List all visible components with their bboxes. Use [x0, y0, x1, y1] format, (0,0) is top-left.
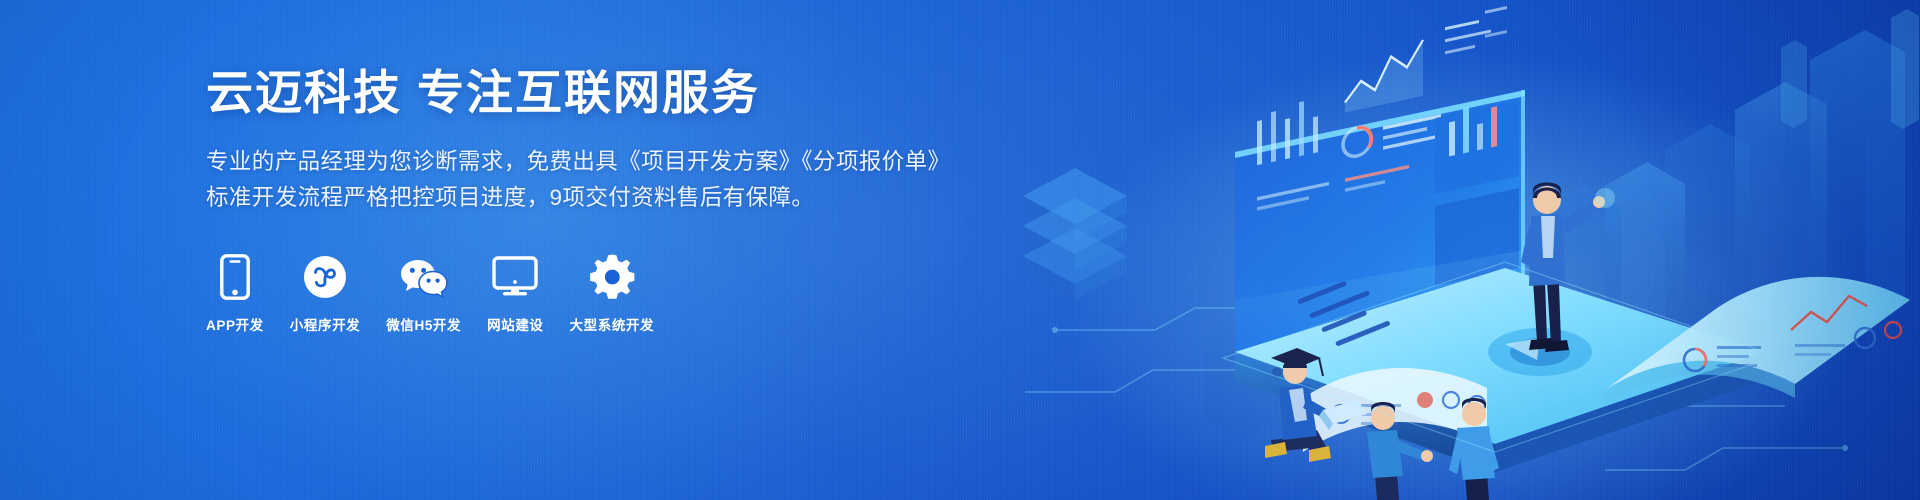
- page-title: 云迈科技 专注互联网服务: [206, 66, 966, 120]
- service-label: 微信H5开发: [386, 314, 461, 334]
- service-list: APP开发 小程序开发: [206, 253, 966, 334]
- service-label: 小程序开发: [290, 314, 361, 334]
- monitor-icon: [492, 253, 538, 301]
- wechat-icon: [399, 253, 449, 301]
- person-standing-pointing: [1521, 183, 1605, 353]
- subtitle-line-1: 专业的产品经理为您诊断需求，免费出具《项目开发方案》《分项报价单》: [206, 144, 966, 180]
- server-stack: [1023, 168, 1127, 300]
- service-item-website[interactable]: 网站建设: [487, 253, 543, 334]
- circuit-lines: [1025, 305, 1848, 470]
- mobile-phone-icon: [220, 253, 250, 301]
- banner-subtitle: 专业的产品经理为您诊断需求，免费出具《项目开发方案》《分项报价单》 标准开发流程…: [206, 144, 966, 217]
- gear-icon: [589, 253, 635, 301]
- mini-program-icon: [303, 253, 347, 301]
- service-item-wechat[interactable]: 微信H5开发: [386, 253, 461, 334]
- curved-data-ribbon: [1605, 277, 1910, 404]
- hero-banner: 云迈科技 专注互联网服务 专业的产品经理为您诊断需求，免费出具《项目开发方案》《…: [0, 0, 1920, 500]
- service-label: APP开发: [206, 314, 264, 334]
- data-card-stack: [1303, 368, 1487, 452]
- tablet-platform: [1235, 268, 1765, 472]
- dashboard-screen: [1235, 6, 1525, 352]
- service-item-app[interactable]: APP开发: [206, 253, 264, 334]
- person-sitting-laptop: [1265, 348, 1367, 462]
- city-skyline-buildings: [1205, 9, 1919, 440]
- service-label: 网站建设: [487, 314, 543, 334]
- person-presenting: [1367, 402, 1433, 500]
- speed-lines: [1297, 281, 1391, 347]
- subtitle-line-2: 标准开发流程严格把控项目进度，9项交付资料售后有保障。: [206, 180, 966, 216]
- service-item-miniprogram[interactable]: 小程序开发: [290, 253, 361, 334]
- banner-content: 云迈科技 专注互联网服务 专业的产品经理为您诊断需求，免费出具《项目开发方案》《…: [206, 66, 966, 334]
- service-label: 大型系统开发: [570, 314, 655, 334]
- person-standing-right: [1449, 398, 1499, 500]
- isometric-data-platform-illustration: [905, 0, 1920, 500]
- service-item-system[interactable]: 大型系统开发: [570, 253, 655, 334]
